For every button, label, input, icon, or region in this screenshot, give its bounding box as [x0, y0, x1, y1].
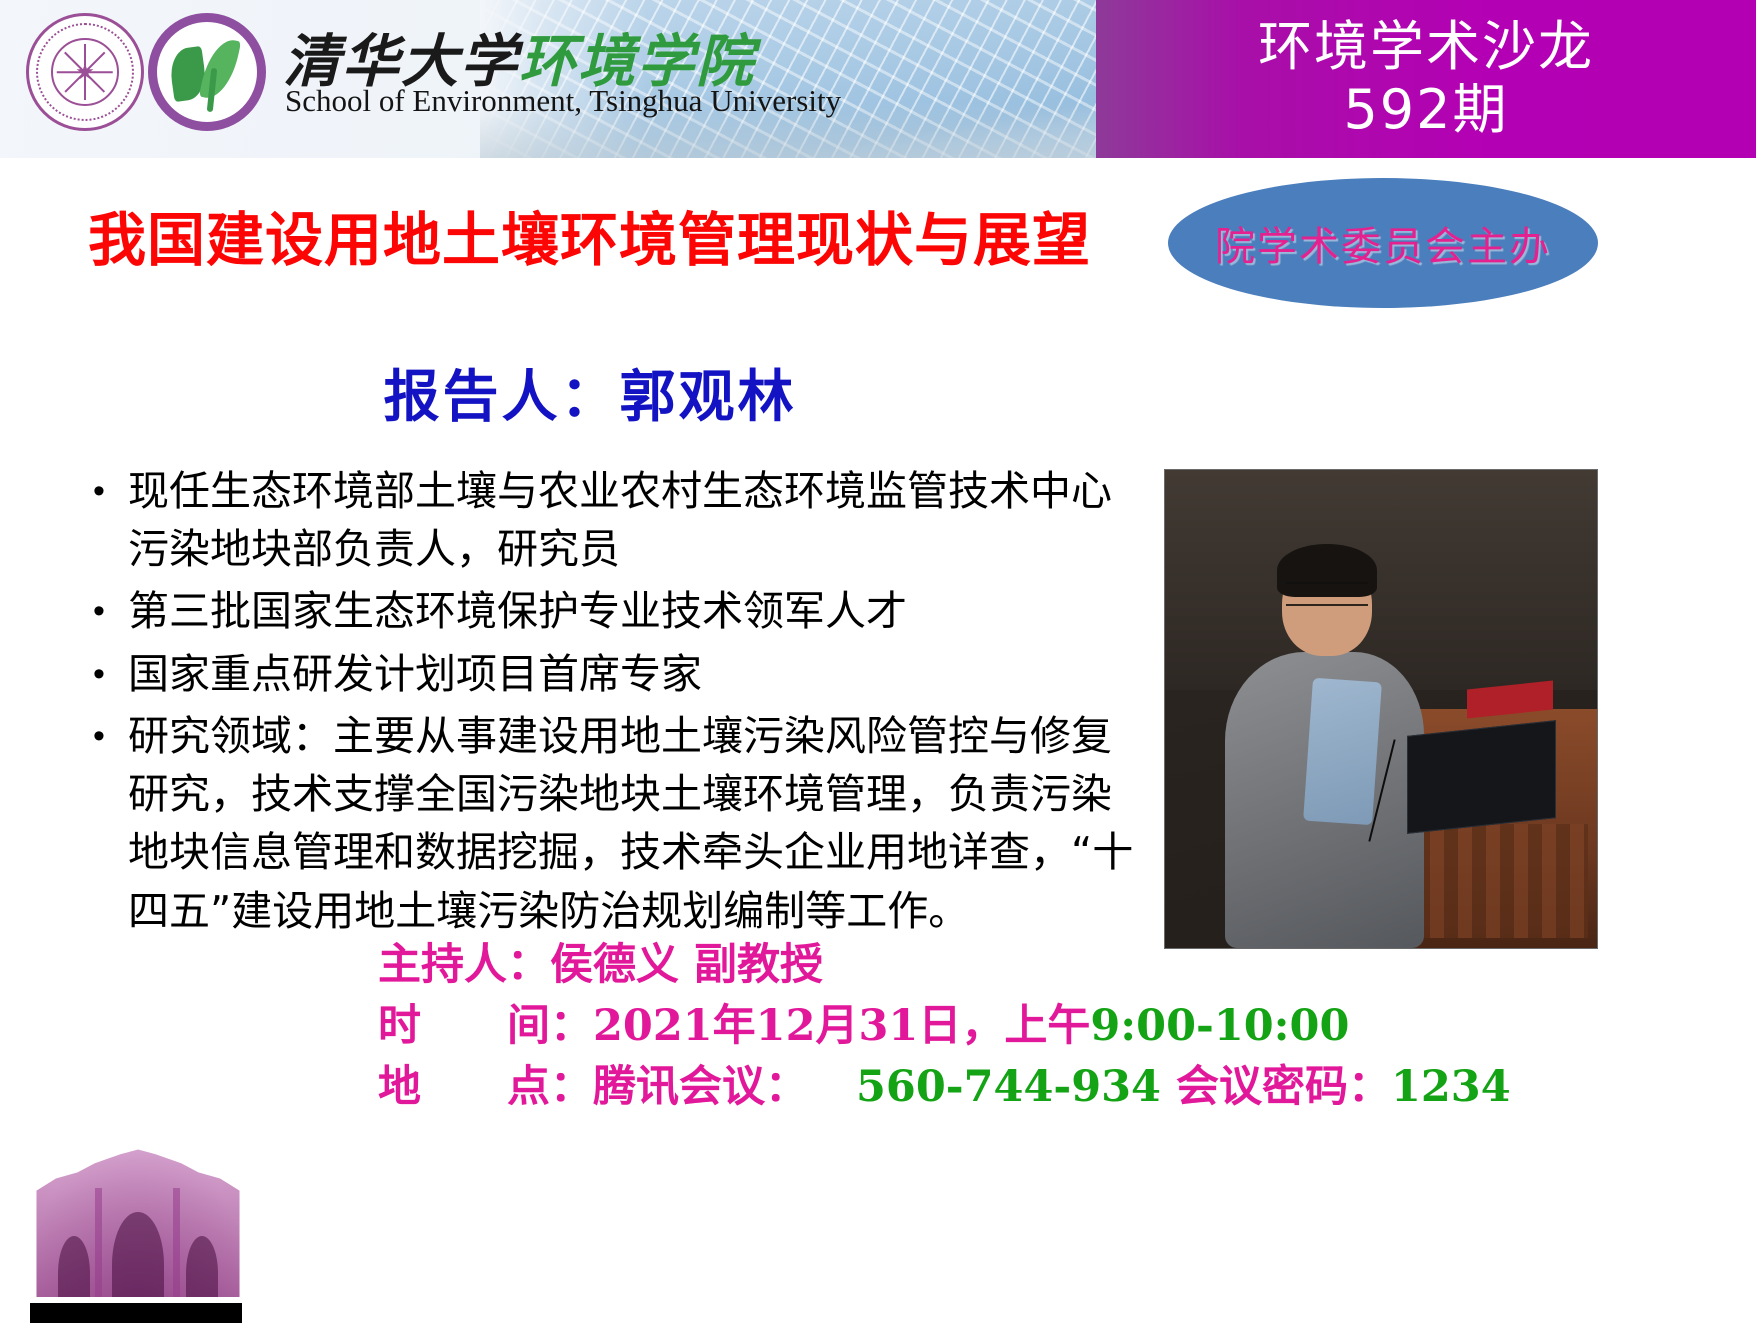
time-value: 2021年12月31日，上午 [593, 1001, 1090, 1051]
place-label: 地 点： [378, 1062, 593, 1112]
list-item-text: 第三批国家生态环境保护专业技术领军人才 [128, 582, 1140, 640]
photo-speaker-shirt [1303, 678, 1382, 826]
list-item: • 现任生态环境部土壤与农业农村生态环境监管技术中心污染地块部负责人，研究员 [70, 462, 1140, 578]
meeting-password: 1234 [1391, 1062, 1511, 1112]
list-item: • 第三批国家生态环境保护专业技术领军人才 [70, 582, 1140, 640]
gate-column-right [173, 1188, 180, 1297]
gate-base-bar [30, 1303, 242, 1323]
list-item: • 研究领域：主要从事建设用地土壤污染风险管控与修复研究，技术支撑全国污染地块土… [70, 707, 1140, 940]
list-item-text: 研究领域：主要从事建设用地土壤污染风险管控与修复研究，技术支撑全国污染地块土壤环… [128, 707, 1140, 940]
password-label: 会议密码： [1161, 1062, 1391, 1112]
photo-podium-panel [1416, 824, 1589, 939]
page-header: ★ 清华大学环境学院 School of Environment, Tsingh… [0, 0, 1756, 158]
list-item-text: 国家重点研发计划项目首席专家 [128, 645, 1140, 703]
speaker-photo [1165, 470, 1597, 948]
list-item: • 国家重点研发计划项目首席专家 [70, 645, 1140, 703]
bullet-dot-icon: • [70, 707, 128, 765]
gate-column-left [95, 1188, 102, 1297]
salon-banner-issue: 592期 [1343, 79, 1508, 142]
time-line: 时 间：2021年12月31日，上午9:00-10:00 [378, 996, 1558, 1057]
time-label: 时 间： [378, 1001, 593, 1051]
title-row: 我国建设用地土壤环境管理现状与展望 院学术委员会主办 [0, 165, 1756, 320]
speaker-bio-list: • 现任生态环境部土壤与农业农村生态环境监管技术中心污染地块部负责人，研究员 •… [70, 462, 1140, 944]
host-value: 侯德义 副教授 [550, 940, 823, 990]
bullet-dot-icon: • [70, 645, 128, 703]
leaf-right-shape [199, 36, 241, 103]
meeting-id: 560-744-934 [856, 1062, 1161, 1112]
bullet-dot-icon: • [70, 582, 128, 640]
host-line: 主持人：侯德义 副教授 [378, 935, 1558, 996]
place-line: 地 点：腾讯会议：560-744-934 会议密码：1234 [378, 1057, 1558, 1118]
time-value-highlight: 9:00-10:00 [1090, 1001, 1349, 1051]
speaker-heading: 报告人：郭观林 [0, 352, 1180, 433]
place-platform: 腾讯会议： [593, 1062, 808, 1112]
organizer-badge-label: 院学术委员会主办 [1215, 214, 1551, 272]
organizer-badge: 院学术委员会主办 [1168, 178, 1598, 308]
school-of-environment-leaf-icon [148, 13, 266, 131]
tsinghua-university-seal-icon: ★ [26, 13, 144, 131]
photo-wall [1165, 470, 1597, 690]
photo-speaker-glasses [1286, 582, 1368, 606]
bullet-dot-icon: • [70, 462, 128, 520]
gate-arch-right [186, 1236, 218, 1297]
wordmark-english: School of Environment, Tsinghua Universi… [285, 83, 841, 119]
salon-banner: 环境学术沙龙 592期 [1096, 0, 1756, 158]
photo-laptop [1407, 720, 1556, 833]
page-title: 我国建设用地土壤环境管理现状与展望 [88, 193, 1091, 277]
host-label: 主持人： [378, 940, 550, 990]
event-details: 主持人：侯德义 副教授 时 间：2021年12月31日，上午9:00-10:00… [378, 935, 1558, 1118]
salon-banner-title: 环境学术沙龙 [1258, 16, 1594, 79]
tsinghua-gate-watermark-icon [30, 1145, 246, 1297]
list-item-text: 现任生态环境部土壤与农业农村生态环境监管技术中心污染地块部负责人，研究员 [128, 462, 1140, 578]
